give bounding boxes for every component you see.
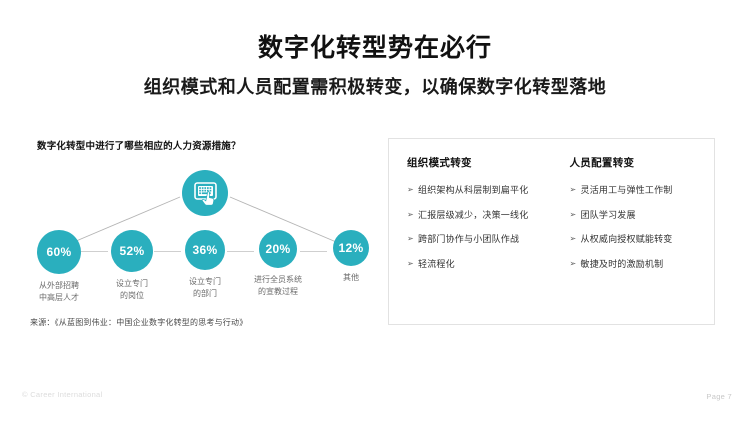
list-item-label: 敏捷及时的激励机制 <box>581 259 664 271</box>
bubble-item[interactable]: 60% 从外部招聘 中高层人才 <box>22 230 96 303</box>
org-model-column: 组织模式转变 ➢ 组织架构从科层制到扁平化 ➢ 汇报层级减少，决策一线化 ➢ 跨… <box>389 139 552 324</box>
list-item: ➢ 从权威向授权赋能转变 <box>570 234 709 246</box>
bubble-value: 12% <box>333 230 369 266</box>
list-item: ➢ 灵活用工与弹性工作制 <box>570 185 709 197</box>
bubble-label: 设立专门 的岗位 <box>95 278 169 301</box>
chevron-right-icon: ➢ <box>570 185 581 195</box>
column-heading: 人员配置转变 <box>570 155 709 170</box>
bubble-value: 60% <box>37 230 81 274</box>
column-heading: 组织模式转变 <box>407 155 546 170</box>
list-item: ➢ 团队学习发展 <box>570 210 709 222</box>
bubble-value: 20% <box>259 230 297 268</box>
list-item-label: 团队学习发展 <box>581 210 636 222</box>
chevron-right-icon: ➢ <box>407 259 418 269</box>
list-item: ➢ 汇报层级减少，决策一线化 <box>407 210 546 222</box>
list-item-label: 跨部门协作与小团队作战 <box>418 234 519 246</box>
list-item-label: 从权威向授权赋能转变 <box>581 234 673 246</box>
bubble-item[interactable]: 20% 进行全员系统 的宣教过程 <box>241 230 315 297</box>
touchscreen-tablet-icon <box>182 170 228 216</box>
list-item-label: 汇报层级减少，决策一线化 <box>418 210 528 222</box>
list-item: ➢ 敏捷及时的激励机制 <box>570 259 709 271</box>
bubble-value: 36% <box>185 230 225 270</box>
bubble-label: 其他 <box>314 272 388 284</box>
bubble-label: 从外部招聘 中高层人才 <box>22 280 96 303</box>
survey-question: 数字化转型中进行了哪些相应的人力资源措施？ <box>37 138 241 152</box>
chevron-right-icon: ➢ <box>407 210 418 220</box>
list-item: ➢ 组织架构从科层制到扁平化 <box>407 185 546 197</box>
page-number: Page 7 <box>706 392 732 401</box>
list-item-label: 灵活用工与弹性工作制 <box>581 185 673 197</box>
chevron-right-icon: ➢ <box>570 259 581 269</box>
bubble-item[interactable]: 52% 设立专门 的岗位 <box>95 230 169 301</box>
source-note: 来源：《从蓝图到伟业：中国企业数字化转型的思考与行动》 <box>30 317 247 328</box>
staffing-column: 人员配置转变 ➢ 灵活用工与弹性工作制 ➢ 团队学习发展 ➢ 从权威向授权赋能转… <box>552 139 715 324</box>
list-item-label: 组织架构从科层制到扁平化 <box>418 185 528 197</box>
bubble-label: 设立专门 的部门 <box>168 276 242 299</box>
list-item: ➢ 轻流程化 <box>407 259 546 271</box>
footer-copyright: © Career International <box>22 390 103 399</box>
chevron-right-icon: ➢ <box>570 234 581 244</box>
bubble-item[interactable]: 36% 设立专门 的部门 <box>168 230 242 299</box>
bubble-value: 52% <box>111 230 153 272</box>
page-subtitle: 组织模式和人员配置需积极转变，以确保数字化转型落地 <box>0 73 750 99</box>
survey-chart-panel: 数字化转型中进行了哪些相应的人力资源措施？ <box>0 125 375 340</box>
bubble-item[interactable]: 12% 其他 <box>314 230 388 284</box>
transformation-panel: 组织模式转变 ➢ 组织架构从科层制到扁平化 ➢ 汇报层级减少，决策一线化 ➢ 跨… <box>388 138 715 325</box>
list-item: ➢ 跨部门协作与小团队作战 <box>407 234 546 246</box>
chevron-right-icon: ➢ <box>570 210 581 220</box>
list-item-label: 轻流程化 <box>418 259 455 271</box>
bubble-label: 进行全员系统 的宣教过程 <box>241 274 315 297</box>
page-title: 数字化转型势在必行 <box>0 28 750 64</box>
chevron-right-icon: ➢ <box>407 185 418 195</box>
chevron-right-icon: ➢ <box>407 234 418 244</box>
